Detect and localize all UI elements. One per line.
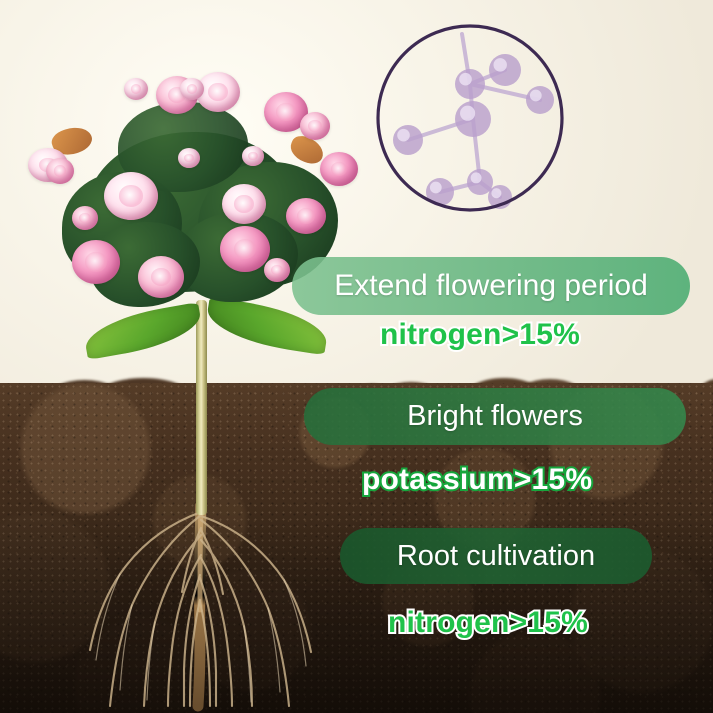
root-system — [0, 0, 713, 713]
callout-pill-bright-flowers[interactable]: Bright flowers — [304, 388, 686, 445]
nutrient-label-potassium: potassium>15% — [362, 463, 592, 497]
callout-label: Bright flowers — [407, 400, 583, 433]
product-infographic: Extend flowering period nitrogen>15% Bri… — [0, 0, 713, 713]
molecule-diagram — [374, 22, 566, 214]
callout-label: Extend flowering period — [334, 269, 648, 303]
callout-pill-root-cultivation[interactable]: Root cultivation — [340, 528, 652, 584]
nutrient-label-nitrogen-1: nitrogen>15% — [380, 318, 580, 352]
callout-pill-extend-flowering-period[interactable]: Extend flowering period — [292, 257, 690, 315]
callout-label: Root cultivation — [397, 540, 595, 573]
nutrient-label-nitrogen-2: nitrogen>15% — [388, 606, 588, 640]
